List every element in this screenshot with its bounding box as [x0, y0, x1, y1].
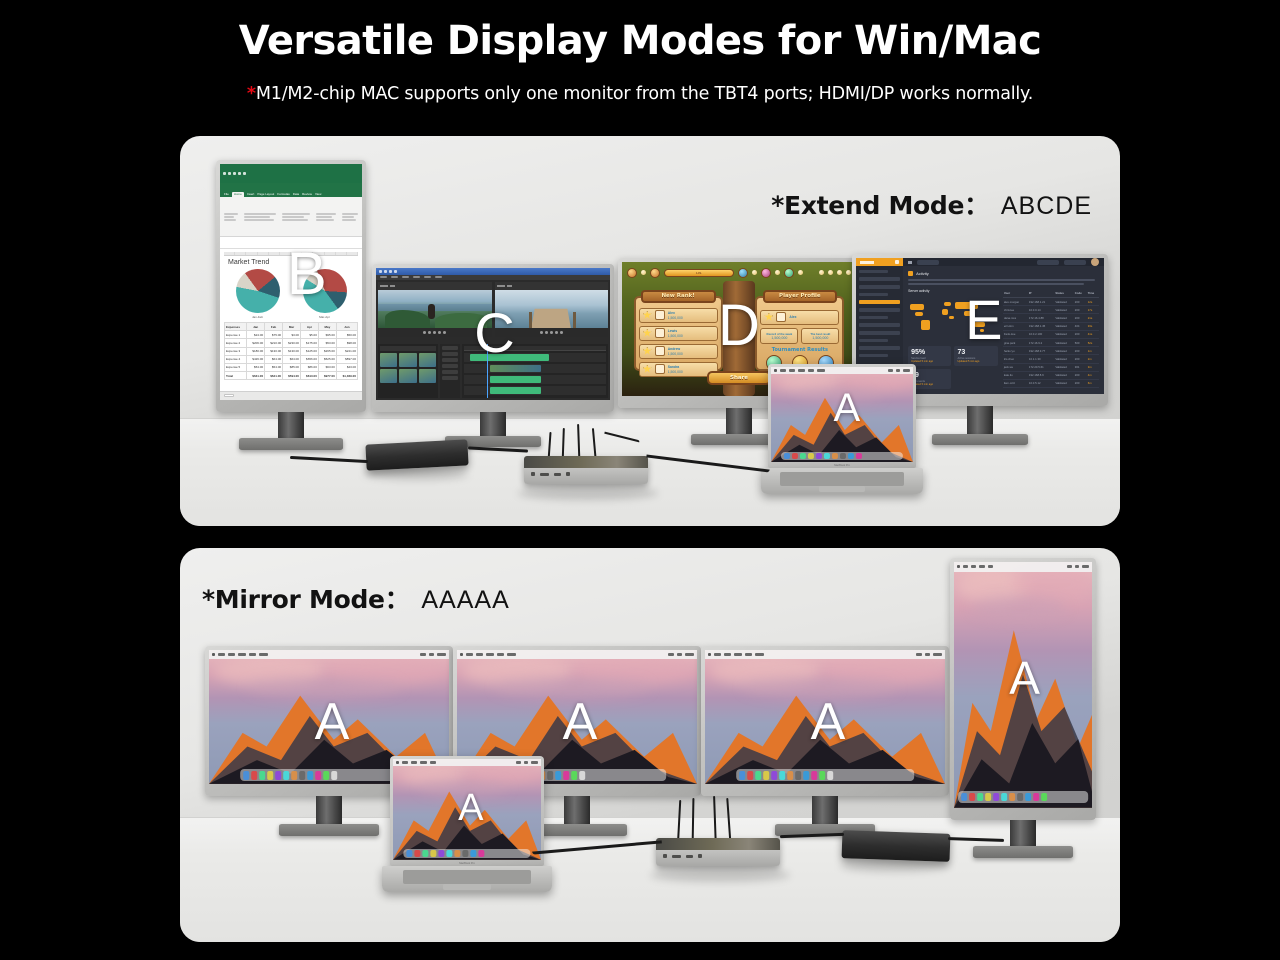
dock-icon[interactable] [1001, 793, 1007, 802]
avatar [655, 364, 665, 374]
program-monitor-panel [495, 282, 609, 337]
dock-icon[interactable] [547, 771, 553, 779]
program-transport-controls[interactable] [495, 328, 609, 337]
laptop-screen: A [771, 367, 913, 462]
macos-menubar[interactable] [954, 562, 1092, 572]
hud-pearl-icon [752, 270, 757, 275]
page-title-text: Activity [916, 271, 929, 276]
profile-row: Alex [760, 310, 839, 325]
player-score: 1,500,000 [668, 316, 683, 320]
dock-icon[interactable] [961, 793, 967, 802]
col-may: May [318, 322, 336, 330]
table-row: hank.ryu192.168.3.77Validated2001m [1003, 347, 1099, 355]
media-thumb[interactable] [380, 353, 397, 367]
mirror-monitor-4-portrait: A [950, 558, 1096, 820]
pie-chart-2: Mar-Apr [303, 269, 347, 319]
dock-icon[interactable] [414, 850, 420, 856]
hud-progress-bar: LVL [664, 269, 734, 277]
media-thumb[interactable] [399, 353, 416, 367]
table-row: Expense 5$54.00$54.00$85.00$86.00$63.00$… [225, 363, 358, 371]
media-thumb[interactable] [399, 369, 416, 383]
avatar[interactable] [1091, 258, 1099, 266]
table-row: dana.ross172.16.4.88Validated20021s [1003, 314, 1099, 322]
mirror-label-text: *Mirror Mode： [202, 585, 409, 614]
dock-icon[interactable] [816, 453, 822, 459]
excel-tab-pagelayout[interactable]: Page Layout [257, 193, 274, 197]
table-row: gina.park172.16.9.2Validated50052s [1003, 338, 1099, 346]
notification-badge[interactable] [1037, 260, 1059, 265]
sheet-tab-1[interactable] [224, 394, 234, 397]
dock-icon[interactable] [579, 771, 585, 779]
dock-icon[interactable] [985, 793, 991, 802]
screen-excel: File Home Insert Page Layout Formulas Da… [220, 164, 362, 400]
monitor-b: File Home Insert Page Layout Formulas Da… [216, 160, 366, 412]
dock-icon[interactable] [1017, 793, 1023, 802]
pie-caption-2: Mar-Apr [303, 315, 347, 319]
media-thumb[interactable] [419, 353, 436, 367]
timeline-track[interactable] [464, 386, 606, 395]
sidebar-item[interactable] [859, 308, 900, 312]
table-row: jack.wu172.20.5.61Validated3013m [1003, 363, 1099, 371]
dock-icon[interactable] [763, 771, 769, 779]
dock-icon[interactable] [808, 453, 814, 459]
dock-icon[interactable] [755, 771, 761, 779]
player-name: Andrew [668, 347, 683, 351]
excel-sheet-title: Market Trend [224, 256, 358, 267]
media-thumbnails[interactable] [380, 353, 436, 383]
timeline-playhead[interactable] [487, 344, 488, 398]
leaderboard-header: New Rank! [641, 290, 716, 303]
timeline-clip[interactable] [490, 365, 541, 372]
avatar [655, 346, 665, 356]
screen-video-editor: C [376, 268, 610, 400]
col-expenses: Expenses [225, 322, 247, 330]
laptop-base [382, 866, 551, 892]
sd-card-slot[interactable] [540, 473, 549, 476]
stat-sub: Updated 5 min ago [957, 360, 994, 363]
laptop-extend: A MacBook Pro [768, 364, 916, 494]
sidebar-item[interactable] [859, 323, 900, 327]
dock-icon[interactable] [993, 793, 999, 802]
avatar [655, 310, 665, 320]
dock-icon[interactable] [800, 453, 806, 459]
audio-jack-port[interactable] [663, 854, 667, 858]
timeline-track[interactable] [464, 364, 606, 373]
laptop-base [761, 468, 924, 494]
monitor-c: C [372, 264, 614, 412]
dock-icon[interactable] [446, 850, 452, 856]
profile-header: Player Profile [763, 290, 838, 303]
dock-icon[interactable] [1025, 793, 1031, 802]
col-feb: Feb [265, 322, 283, 330]
profile-stat: The best result 1,500,000 [801, 328, 839, 344]
dock-icon[interactable] [840, 453, 846, 459]
table-total-row: Total$641.00$641.00$594.00$613.00$977.00… [225, 372, 358, 380]
avatar [776, 312, 786, 322]
star-icon [643, 365, 652, 374]
media-thumb[interactable] [419, 369, 436, 383]
hud-pearl-icon [819, 270, 824, 275]
power-adapter [842, 830, 951, 862]
extend-mode-panel: *Extend Mode：ABCDE File Home Insert Page… [180, 136, 1120, 526]
dock-icon[interactable] [779, 771, 785, 779]
video-editor-title-bar [376, 268, 610, 275]
dock-icon[interactable] [832, 453, 838, 459]
excel-tab-formulas[interactable]: Formulas [277, 193, 290, 197]
hud-orb-icon[interactable] [627, 268, 637, 278]
game-profile-panel: Player Profile Alex Record of the week 1… [755, 296, 844, 371]
laptop-brand-label: MacBook Pro [768, 464, 916, 467]
dock-icon[interactable] [824, 453, 830, 459]
macos-menubar[interactable] [705, 650, 945, 659]
power-led [698, 854, 702, 858]
share-button-label: Share [730, 375, 748, 381]
timeline-ruler[interactable] [464, 346, 606, 351]
stat-card: 95% Service load Updated 5 min ago [908, 346, 951, 366]
table-row: alex.morgan192.168.1.21Validated20012s [1003, 298, 1099, 306]
dock-icon[interactable] [251, 771, 257, 779]
dock-icon[interactable] [848, 453, 854, 459]
dock-icon[interactable] [470, 850, 476, 856]
timeline-panel[interactable] [462, 344, 608, 398]
excel-formula-bar[interactable] [220, 237, 362, 249]
sidebar-item-active[interactable] [859, 300, 900, 304]
table-row: Expense 3$180.00$130.00$130.00$125.00$26… [225, 347, 358, 355]
player-name: Alex [668, 311, 683, 315]
player-score: 1,500,000 [668, 370, 683, 374]
dashboard-description [908, 279, 1099, 285]
monitor-stand-base [932, 434, 1028, 445]
dock-icon[interactable] [1009, 793, 1015, 802]
dock-icon[interactable] [259, 771, 265, 779]
leaderboard-row[interactable]: Sandra1,500,000 [639, 362, 718, 377]
section-label: Server activity [908, 289, 929, 293]
mirror-mode-label: *Mirror Mode：AAAAA [202, 580, 510, 616]
dock-icon[interactable] [784, 453, 790, 459]
screen-mirror-3: A [705, 650, 945, 784]
stat-value: 73 [957, 349, 994, 356]
sidebar-item[interactable] [859, 293, 888, 296]
table-row: Expense 1$24.00$75.00$3.00$5.00$95.00$50… [225, 331, 358, 339]
excel-tab-view[interactable]: View [315, 193, 321, 197]
leaderboard-title: New Rank! [661, 293, 694, 299]
dock-icon[interactable] [430, 850, 436, 856]
dock-icon[interactable] [462, 850, 468, 856]
dashboard-logo[interactable] [856, 258, 903, 266]
laptop-trackpad[interactable] [443, 884, 490, 890]
laptop-keyboard[interactable] [780, 472, 904, 486]
stat-value: 1,500,000 [812, 336, 828, 340]
macos-menubar[interactable] [393, 759, 541, 766]
account-menu[interactable] [1064, 260, 1086, 265]
subtitle-text: M1/M2-chip MAC supports only one monitor… [256, 84, 1033, 104]
col-mar: Mar [283, 322, 301, 330]
profile-stat: Record of the week 1,500,000 [760, 328, 798, 344]
excel-tab-data[interactable]: Data [293, 193, 299, 197]
hud-pearl-icon [837, 270, 842, 275]
monitor-stand-base [239, 438, 343, 450]
excel-pie-charts: Jan-Feb Mar-Apr [224, 267, 358, 319]
asterisk-marker: * [247, 84, 256, 104]
tournament-title: Tournament Results [760, 347, 839, 353]
source-transport-controls[interactable] [378, 328, 492, 337]
dock-icon[interactable] [323, 771, 329, 779]
excel-sheet-tabs[interactable] [220, 391, 362, 400]
screen-mirror-4: A [954, 562, 1092, 808]
extend-label-text: *Extend Mode： [771, 191, 989, 220]
excel-data-table: Expenses Jan Feb Mar Apr May Jun Expense [224, 322, 358, 380]
sidebar-item[interactable] [859, 285, 900, 289]
tools-panel[interactable] [440, 344, 461, 398]
macos-menubar[interactable] [209, 650, 449, 659]
extend-label-value: ABCDE [1001, 192, 1092, 220]
hud-pearl-icon [828, 270, 833, 275]
sidebar-item[interactable] [859, 346, 900, 350]
breadcrumb [917, 260, 939, 265]
leaderboard-row[interactable]: Andrew1,500,000 [639, 344, 718, 359]
page-title: Versatile Display Modes for Win/Mac [0, 18, 1280, 64]
excel-tab-home[interactable]: Home [232, 192, 244, 197]
col-apr: Apr [300, 322, 318, 330]
dock-icon[interactable] [478, 850, 484, 856]
dock-icon[interactable] [739, 771, 745, 779]
sidebar-item[interactable] [859, 339, 888, 342]
pie-chart-1: Jan-Feb [236, 269, 280, 319]
audio-jack-port[interactable] [531, 472, 535, 476]
dock-icon[interactable] [795, 771, 801, 779]
dashboard-topbar [903, 258, 1104, 266]
hud-orb-icon[interactable] [784, 268, 794, 278]
docking-station[interactable] [524, 456, 648, 484]
table-row: liam.ortiz10.0.5.12Validated2006m [1003, 379, 1099, 387]
dock-icon[interactable] [1041, 793, 1047, 802]
sidebar-item[interactable] [859, 331, 900, 335]
laptop-screen: A [393, 759, 541, 860]
dock-icon[interactable] [792, 453, 798, 459]
dock-icon[interactable] [555, 771, 561, 779]
sidebar-item[interactable] [859, 354, 888, 357]
hud-pearl-icon [775, 270, 780, 275]
excel-title-bar [220, 164, 362, 183]
profile-player-name: Alex [789, 315, 796, 319]
mountain-graphic [954, 606, 1092, 808]
extend-mode-label: *Extend Mode：ABCDE [771, 186, 1092, 222]
dock-icon[interactable] [315, 771, 321, 779]
pie-caption-1: Jan-Feb [236, 315, 280, 319]
dock-icon[interactable] [422, 850, 428, 856]
dock-ports[interactable] [663, 853, 755, 860]
macos-dock[interactable] [403, 849, 530, 858]
dock-icon[interactable] [969, 793, 975, 802]
dock-icon[interactable] [291, 771, 297, 779]
excel-tab-file[interactable]: File [224, 193, 229, 197]
menu-icon[interactable] [908, 261, 912, 264]
col-jan: Jan [247, 322, 265, 330]
dock-icon[interactable] [787, 771, 793, 779]
world-map [908, 296, 998, 342]
star-icon [643, 347, 652, 356]
player-score: 1,500,000 [668, 352, 683, 356]
macos-wallpaper [954, 562, 1092, 808]
hud-orb-icon[interactable] [761, 268, 771, 278]
dock-icon[interactable] [803, 771, 809, 779]
star-icon [643, 311, 652, 320]
usb-port[interactable] [686, 855, 693, 858]
table-row: chris.lee10.0.0.14Validated20017s [1003, 306, 1099, 314]
player-score: 1,500,000 [668, 334, 683, 338]
macos-menubar[interactable] [771, 367, 913, 374]
star-icon [764, 313, 773, 322]
dock-icon[interactable] [307, 771, 313, 779]
power-adapter [365, 439, 468, 470]
table-row: Expense 4$426.00$64.00$64.00$656.00$525.… [225, 355, 358, 363]
timeline-track[interactable] [464, 353, 606, 362]
leaderboard-row[interactable]: Lewis1,500,000 [639, 326, 718, 341]
dock-icon[interactable] [747, 771, 753, 779]
col-time: Time [1087, 289, 1099, 298]
share-button[interactable]: Share [707, 371, 771, 385]
activity-icon [908, 271, 913, 276]
project-panel[interactable] [378, 344, 438, 398]
dock-icon[interactable] [243, 771, 249, 779]
hud-pearl-icon [798, 270, 803, 275]
player-name: Lewis [668, 329, 683, 333]
hud-pearl-icon [641, 270, 646, 275]
monitor-stand-base [973, 846, 1073, 858]
profile-title: Player Profile [779, 293, 821, 299]
stat-sub: Updated 5 min ago [911, 383, 948, 386]
laptop-keyboard[interactable] [403, 870, 532, 884]
source-monitor-panel [378, 282, 492, 337]
laptop-mirror: A MacBook Pro [390, 756, 544, 892]
table-row: iris.chen10.1.1.30Validated2002m [1003, 355, 1099, 363]
col-user: User [1003, 289, 1028, 298]
dock-icon[interactable] [977, 793, 983, 802]
macos-dock[interactable] [958, 791, 1088, 803]
dock-ports[interactable] [531, 471, 623, 478]
dock-icon[interactable] [811, 771, 817, 779]
laptop-trackpad[interactable] [819, 486, 865, 492]
dock-icon[interactable] [827, 771, 833, 779]
dock-top-surface [656, 838, 780, 850]
dock-icon[interactable] [454, 850, 460, 856]
macos-menubar[interactable] [457, 650, 697, 659]
stat-card: 73 Active sessions Updated 5 min ago [954, 346, 997, 366]
table-row: frank.doe10.0.2.100Validated20041s [1003, 330, 1099, 338]
hud-orb-icon[interactable] [650, 268, 660, 278]
macos-dock[interactable] [736, 769, 914, 781]
hud-orb-icon[interactable] [738, 268, 748, 278]
mirror-mode-panel: *Mirror Mode：AAAAA [180, 548, 1120, 942]
dock-icon[interactable] [267, 771, 273, 779]
dock-icon[interactable] [299, 771, 305, 779]
table-row: Expense 2$206.00$210.00$230.00$175.00$53… [225, 339, 358, 347]
sidebar-item[interactable] [859, 316, 888, 319]
timeline-clip[interactable] [490, 387, 541, 394]
table-header-row: Expenses Jan Feb Mar Apr May Jun [225, 322, 358, 330]
mirror-label-value: AAAAA [421, 586, 509, 614]
hud-bar-label: LVL [696, 271, 701, 275]
dashboard-page-title: Activity [908, 271, 1099, 276]
timeline-clip[interactable] [470, 354, 549, 361]
col-ip: IP [1028, 289, 1054, 298]
macos-wallpaper [393, 759, 541, 860]
sidebar-item[interactable] [859, 270, 888, 273]
dock-icon[interactable] [819, 771, 825, 779]
game-hud[interactable]: LVL [622, 265, 856, 281]
monitor-stand-base [279, 824, 379, 836]
hud-pearl-icon [846, 270, 851, 275]
timeline-clip[interactable] [490, 376, 541, 383]
macos-wallpaper [771, 367, 913, 462]
stat-sub: Updated 5 min ago [911, 360, 948, 363]
stat-value: 99 [911, 372, 948, 379]
sd-card-slot[interactable] [672, 855, 681, 858]
dock-icon[interactable] [1033, 793, 1039, 802]
leaderboard-row[interactable]: Alex1,500,000 [639, 308, 718, 323]
dock-icon[interactable] [438, 850, 444, 856]
docking-station[interactable] [656, 838, 780, 866]
timeline-track[interactable] [464, 375, 606, 384]
stat-value: 95% [911, 349, 948, 356]
dock-icon[interactable] [283, 771, 289, 779]
stat-value: 1,500,000 [771, 336, 787, 340]
excel-ribbon-tabs[interactable]: File Home Insert Page Layout Formulas Da… [220, 183, 362, 197]
usb-port[interactable] [554, 473, 561, 476]
media-thumb[interactable] [380, 369, 397, 383]
source-preview-image [378, 290, 492, 328]
sidebar-item[interactable] [859, 277, 900, 281]
marketing-image: Versatile Display Modes for Win/Mac *M1/… [0, 0, 1280, 960]
excel-ribbon[interactable] [220, 197, 362, 237]
macos-dock[interactable] [781, 452, 903, 461]
star-icon [643, 329, 652, 338]
power-led [566, 472, 570, 476]
dock-icon[interactable] [406, 850, 412, 856]
table-header-row: User IP Status Code Time [1003, 289, 1099, 298]
player-name: Sandra [668, 365, 683, 369]
dock-icon[interactable] [331, 771, 337, 779]
dashboard-table: User IP Status Code Time alex.morg [1003, 289, 1099, 389]
excel-tab-insert[interactable]: Insert [247, 193, 255, 197]
dock-top-surface [524, 456, 648, 468]
page-subtitle: *M1/M2-chip MAC supports only one monito… [0, 84, 1280, 104]
program-preview-image [495, 290, 609, 328]
game-leaderboard-panel: New Rank! Alex1,500,000 [634, 296, 723, 371]
dock-icon[interactable] [771, 771, 777, 779]
dock-icon[interactable] [275, 771, 281, 779]
col-jun: Jun [336, 322, 357, 330]
col-code: Code [1074, 289, 1087, 298]
dock-icon[interactable] [563, 771, 569, 779]
macos-wallpaper [705, 650, 945, 784]
col-status: Status [1054, 289, 1073, 298]
dashboard-stat-cards: 95% Service load Updated 5 min ago 73 Ac… [908, 346, 998, 389]
table-row: erin.kim192.168.1.45Validated40433s [1003, 322, 1099, 330]
section-header: Server activity [908, 289, 998, 293]
excel-tab-review[interactable]: Review [302, 193, 312, 197]
dock-icon[interactable] [856, 453, 862, 459]
table-row: kate.liu192.168.8.9Validated2004m [1003, 371, 1099, 379]
dock-icon[interactable] [571, 771, 577, 779]
mirror-monitor-3: A [701, 646, 949, 796]
avatar [655, 328, 665, 338]
laptop-brand-label: MacBook Pro [390, 862, 544, 865]
